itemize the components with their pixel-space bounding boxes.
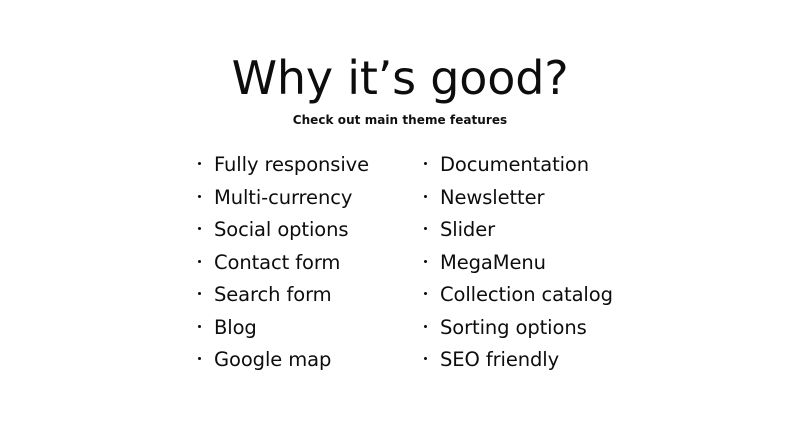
list-item: Fully responsive	[198, 155, 424, 188]
feature-label: Search form	[214, 285, 332, 305]
page-subtitle: Check out main theme features	[0, 111, 800, 129]
feature-label: Multi-currency	[214, 188, 352, 208]
feature-label: Fully responsive	[214, 155, 369, 175]
list-item: SEO friendly	[424, 350, 628, 383]
feature-label: Contact form	[214, 253, 340, 273]
list-item: Contact form	[198, 253, 424, 286]
heading-block: Why it’s good? Check out main theme feat…	[0, 52, 800, 129]
list-item: Search form	[198, 285, 424, 318]
list-item: Google map	[198, 350, 424, 383]
feature-label: Documentation	[440, 155, 589, 175]
list-item: Slider	[424, 220, 628, 253]
feature-label: Blog	[214, 318, 257, 338]
feature-column-right: Documentation Newsletter Slider MegaMenu…	[424, 155, 628, 383]
feature-list-slide: Why it’s good? Check out main theme feat…	[0, 0, 800, 446]
list-item: Sorting options	[424, 318, 628, 351]
feature-label: MegaMenu	[440, 253, 546, 273]
list-item: Blog	[198, 318, 424, 351]
feature-label: Slider	[440, 220, 495, 240]
list-item: Collection catalog	[424, 285, 628, 318]
feature-label: SEO friendly	[440, 350, 559, 370]
list-item: Social options	[198, 220, 424, 253]
list-item: Newsletter	[424, 188, 628, 221]
feature-label: Collection catalog	[440, 285, 613, 305]
list-item: MegaMenu	[424, 253, 628, 286]
feature-label: Google map	[214, 350, 331, 370]
features-section: Fully responsive Multi-currency Social o…	[198, 155, 628, 383]
list-item: Documentation	[424, 155, 628, 188]
list-item: Multi-currency	[198, 188, 424, 221]
feature-column-left: Fully responsive Multi-currency Social o…	[198, 155, 424, 383]
feature-label: Sorting options	[440, 318, 587, 338]
feature-label: Social options	[214, 220, 348, 240]
feature-label: Newsletter	[440, 188, 544, 208]
page-title: Why it’s good?	[0, 52, 800, 104]
